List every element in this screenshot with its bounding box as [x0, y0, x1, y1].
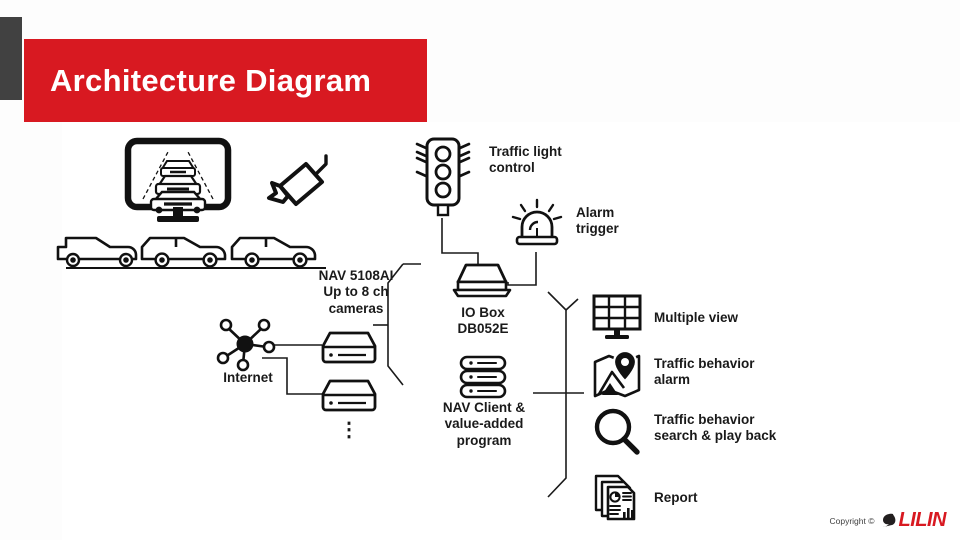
- map-pin-icon: [592, 350, 642, 398]
- feature-label-traffic-behavior-search: Traffic behavior search & play back: [654, 412, 854, 445]
- lilin-wordmark: LILIN: [899, 509, 947, 532]
- cctv-camera-icon: [266, 152, 332, 214]
- traffic-light-label: Traffic light control: [489, 144, 599, 177]
- feature-label-report: Report: [654, 490, 794, 506]
- footer: Copyright © LILIN: [829, 509, 946, 532]
- io-box-icon: [451, 262, 513, 298]
- alarm-beacon-icon: [510, 198, 564, 250]
- lilin-mark-icon: [881, 512, 897, 530]
- io-box-label: IO Box DB052E: [431, 305, 535, 338]
- title-banner: Architecture Diagram: [24, 39, 427, 122]
- alarm-label: Alarm trigger: [576, 205, 666, 238]
- feature-label-multiple-view: Multiple view: [654, 310, 834, 326]
- traffic-monitor-display: [126, 139, 230, 225]
- multiple-view-icon: [592, 294, 642, 340]
- report-document-icon: [592, 472, 642, 522]
- page-title: Architecture Diagram: [50, 63, 371, 99]
- road-with-cars: [64, 224, 326, 272]
- magnifier-icon: [592, 408, 642, 456]
- title-accent-tab: [0, 17, 22, 100]
- nvr-label: NAV 5108AI Up to 8 ch cameras: [300, 268, 412, 317]
- internet-label: Internet: [204, 370, 292, 386]
- nvr-device-2: [320, 378, 378, 412]
- internet-network-icon: [216, 318, 276, 370]
- nvr-device-1: [320, 330, 378, 364]
- nvr-more-indicator: ⋮: [329, 418, 369, 442]
- traffic-light-icon: [415, 136, 471, 222]
- copyright-text: Copyright ©: [829, 516, 874, 526]
- lilin-logo: LILIN: [881, 509, 947, 532]
- nav-client-server-icon: [458, 355, 508, 401]
- feature-label-traffic-behavior-alarm: Traffic behavior alarm: [654, 356, 844, 389]
- nav-client-label: NAV Client & value-added program: [425, 400, 543, 449]
- slide-root: Architecture Diagram: [0, 0, 960, 540]
